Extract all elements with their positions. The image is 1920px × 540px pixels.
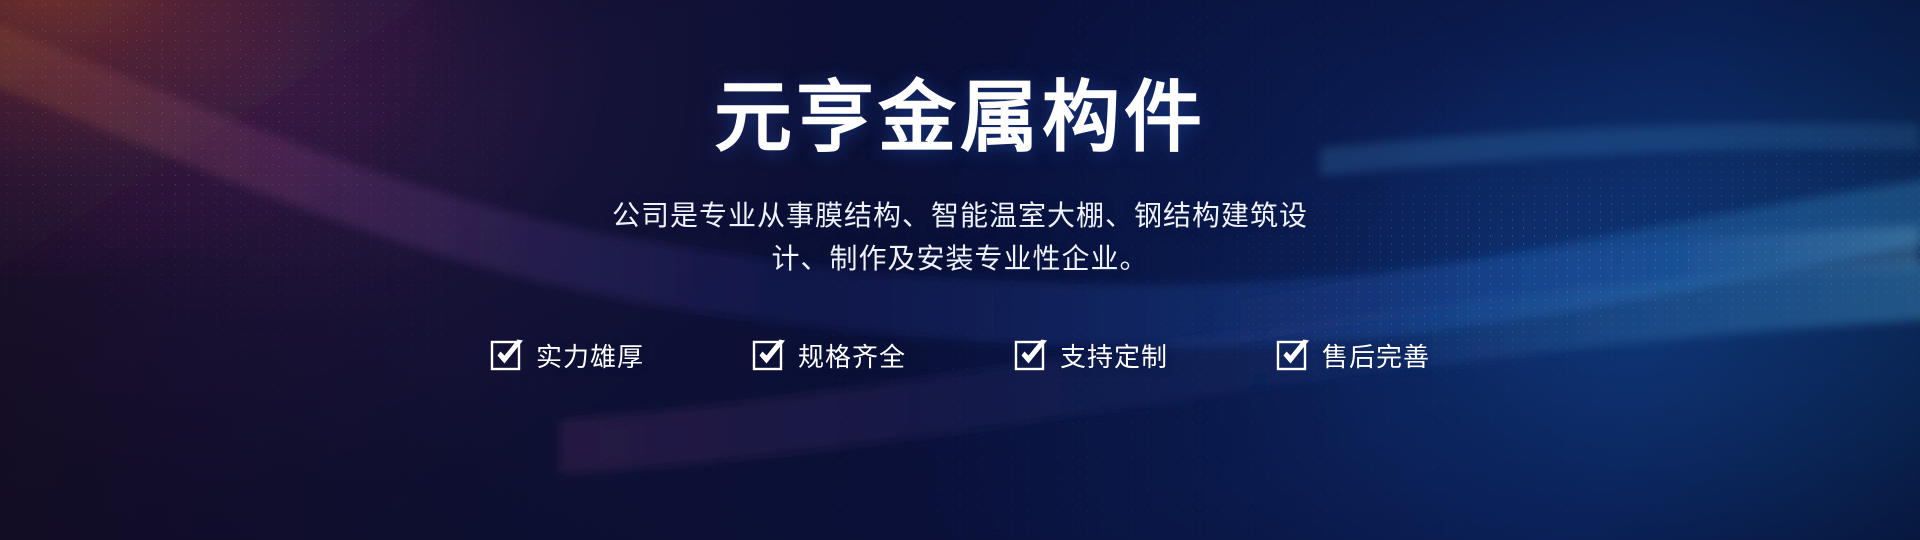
feature-item-customization: 支持定制 xyxy=(1014,337,1168,374)
checkbox-checked-icon xyxy=(1014,338,1048,372)
banner-content: 元亨金属构件 公司是专业从事膜结构、智能温室大棚、钢结构建筑设 计、制作及安装专… xyxy=(0,0,1920,540)
feature-item-strength: 实力雄厚 xyxy=(490,337,644,374)
checkbox-checked-icon xyxy=(752,338,786,372)
hero-banner: 元亨金属构件 公司是专业从事膜结构、智能温室大棚、钢结构建筑设 计、制作及安装专… xyxy=(0,0,1920,540)
feature-label: 支持定制 xyxy=(1060,337,1168,374)
subtitle-line-1: 公司是专业从事膜结构、智能温室大棚、钢结构建筑设 xyxy=(510,194,1410,237)
checkbox-checked-icon xyxy=(490,338,524,372)
feature-label: 售后完善 xyxy=(1322,337,1430,374)
subtitle-line-2: 计、制作及安装专业性企业。 xyxy=(510,237,1410,280)
feature-label: 规格齐全 xyxy=(798,337,906,374)
feature-label: 实力雄厚 xyxy=(536,337,644,374)
banner-subtitle: 公司是专业从事膜结构、智能温室大棚、钢结构建筑设 计、制作及安装专业性企业。 xyxy=(510,194,1410,281)
feature-item-specifications: 规格齐全 xyxy=(752,337,906,374)
checkbox-checked-icon xyxy=(1276,338,1310,372)
page-title: 元亨金属构件 xyxy=(714,78,1206,156)
feature-item-after-sales: 售后完善 xyxy=(1276,337,1430,374)
feature-list: 实力雄厚 规格齐全 支持定制 xyxy=(490,337,1430,374)
